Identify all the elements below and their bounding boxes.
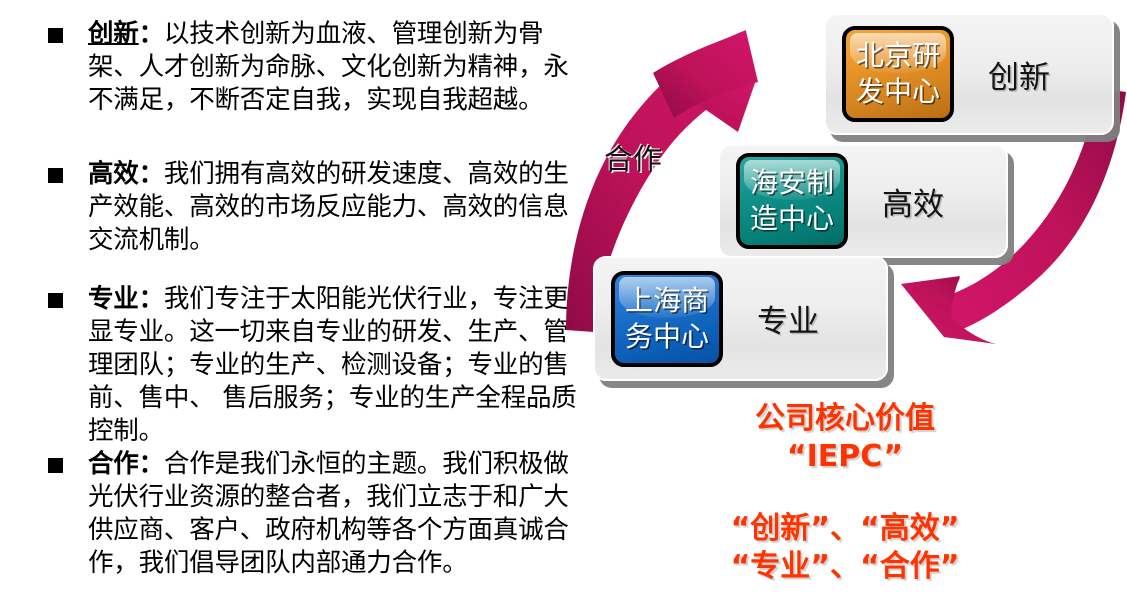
square-bullet-icon: [48, 293, 63, 308]
badge-beijing-rd-center[interactable]: 北京研 发中心: [842, 26, 954, 122]
badge-haian-manufacturing-center[interactable]: 海安制 造中心: [736, 153, 848, 249]
square-bullet-icon: [48, 168, 63, 183]
square-bullet-icon: [48, 28, 63, 43]
core-values-bullet-list: 创新：以技术创新为血液、管理创新为骨架、人才创新为命脉、文化创新为精神，永不满足…: [0, 0, 600, 607]
bullet-heading: 创新: [88, 19, 139, 49]
badge-line-2: 发中心: [856, 74, 940, 110]
square-bullet-icon: [48, 458, 63, 473]
badge-line-1: 海安制: [750, 165, 834, 201]
unit-value-label: 专业: [757, 296, 819, 341]
cooperation-up-arrowhead-icon: [654, 74, 756, 132]
core-values-acronym: “IEPC”: [620, 438, 1070, 476]
core-values-items-2: “专业”、“合作”: [620, 548, 1070, 586]
bullet-colon: ：: [139, 449, 164, 479]
unit-card-innovation[interactable]: 北京研 发中心 创新: [824, 13, 1114, 135]
cycle-down-arrowhead-icon: [932, 278, 960, 338]
bullet-heading: 合作: [88, 449, 139, 479]
badge-line-1: 上海商: [625, 283, 709, 319]
bullet-text: 专业：我们专注于太阳能光伏行业，专注更显专业。这一切来自专业的研发、生产、管理团…: [88, 283, 588, 448]
bullet-colon: ：: [139, 284, 164, 314]
cooperation-up-arrow-tip-icon: [653, 31, 758, 118]
bullet-colon: ：: [139, 19, 164, 49]
unit-card-efficiency[interactable]: 海安制 造中心 高效: [718, 144, 1008, 258]
badge-line-2: 务中心: [625, 319, 709, 355]
cooperation-arrow-label: 合作: [604, 136, 662, 178]
bullet-text: 合作：合作是我们永恒的主题。我们积极做光伏行业资源的整合者，我们立志于和广大供应…: [88, 448, 588, 580]
unit-value-label: 高效: [882, 179, 944, 224]
core-values-title: 公司核心价值: [620, 400, 1070, 438]
core-values-items-1: “创新”、“高效”: [620, 510, 1070, 548]
bullet-colon: ：: [139, 159, 164, 189]
badge-line-2: 造中心: [750, 201, 834, 237]
core-values-caption: 公司核心价值 “IEPC” “创新”、“高效” “专业”、“合作”: [620, 400, 1070, 586]
badge-line-1: 北京研: [856, 38, 940, 74]
unit-value-label: 创新: [988, 52, 1050, 97]
bullet-text: 创新：以技术创新为血液、管理创新为骨架、人才创新为命脉、文化创新为精神，永不满足…: [88, 18, 588, 117]
badge-shanghai-business-center[interactable]: 上海商 务中心: [611, 271, 723, 367]
bullet-heading: 专业: [88, 284, 139, 314]
bullet-heading: 高效: [88, 159, 139, 189]
bullet-text: 高效：我们拥有高效的研发速度、高效的生产效能、高效的市场反应能力、高效的信息交流…: [88, 158, 588, 257]
unit-card-professional[interactable]: 上海商 务中心 专业: [593, 256, 888, 381]
iepc-cycle-diagram: 合作 北京研 发中心 创新 海安制 造中心 高效 上海商 务中心 专业 公司核心…: [560, 0, 1127, 607]
cycle-down-arrow-tip-icon: [901, 276, 996, 344]
